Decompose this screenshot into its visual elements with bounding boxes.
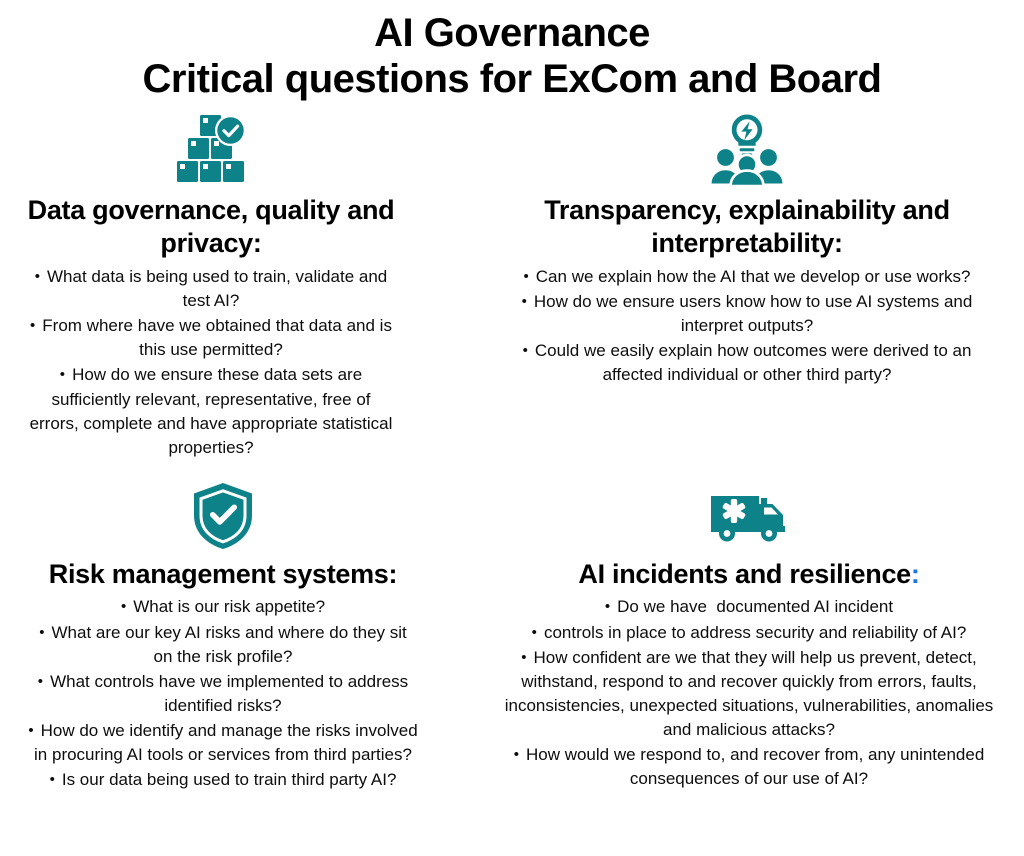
ambulance-icon xyxy=(709,480,789,552)
bullet-list: Can we explain how the AI that we develo… xyxy=(490,265,1004,389)
title-line-1: AI Governance xyxy=(0,10,1024,56)
list-item: How do we ensure these data sets are suf… xyxy=(22,363,400,460)
list-item: How would we respond to, and recover fro… xyxy=(496,743,1002,791)
quadrant-heading: Risk management systems: xyxy=(49,558,397,591)
bullet-list: What data is being used to train, valida… xyxy=(22,265,400,461)
shield-check-icon xyxy=(192,480,254,552)
quadrant-risk-management: Risk management systems: What is our ris… xyxy=(0,480,472,856)
list-item: controls in place to address security an… xyxy=(496,621,1002,645)
list-item: Could we easily explain how outcomes wer… xyxy=(490,339,1004,387)
quadrant-heading: Data governance, quality and privacy: xyxy=(22,194,400,261)
list-item: How do we ensure users know how to use A… xyxy=(490,290,1004,338)
slide-canvas: AI Governance Critical questions for ExC… xyxy=(0,0,1024,856)
list-item: What controls have we implemented to add… xyxy=(22,670,424,718)
quadrant-heading-text: AI incidents and resilience xyxy=(578,559,911,589)
title-line-2: Critical questions for ExCom and Board xyxy=(0,56,1024,102)
stacked-boxes-check-icon xyxy=(174,110,248,188)
quadrant-ai-incidents: AI incidents and resilience: Do we have … xyxy=(472,480,1024,856)
bullet-list: What is our risk appetite? What are our … xyxy=(22,595,424,793)
list-item: From where have we obtained that data an… xyxy=(22,314,400,362)
quadrant-transparency: Transparency, explainability and interpr… xyxy=(472,110,1024,480)
quadrant-heading: AI incidents and resilience: xyxy=(578,558,919,591)
quadrant-heading: Transparency, explainability and interpr… xyxy=(490,194,1004,261)
list-item: Can we explain how the AI that we develo… xyxy=(490,265,1004,289)
bullet-list: Do we have documented AI incident contro… xyxy=(496,595,1002,792)
quadrant-heading-colon: : xyxy=(911,559,920,589)
list-item: How do we identify and manage the risks … xyxy=(22,719,424,767)
list-item: How confident are we that they will help… xyxy=(496,646,1002,743)
list-item: Do we have documented AI incident xyxy=(496,595,1002,619)
quadrant-data-governance: Data governance, quality and privacy: Wh… xyxy=(0,110,472,480)
list-item: Is our data being used to train third pa… xyxy=(22,768,424,792)
page-title: AI Governance Critical questions for ExC… xyxy=(0,0,1024,103)
list-item: What are our key AI risks and where do t… xyxy=(22,621,424,669)
people-lightbulb-icon xyxy=(709,110,785,188)
list-item: What data is being used to train, valida… xyxy=(22,265,400,313)
list-item: What is our risk appetite? xyxy=(22,595,424,619)
quadrant-grid: Data governance, quality and privacy: Wh… xyxy=(0,110,1024,856)
